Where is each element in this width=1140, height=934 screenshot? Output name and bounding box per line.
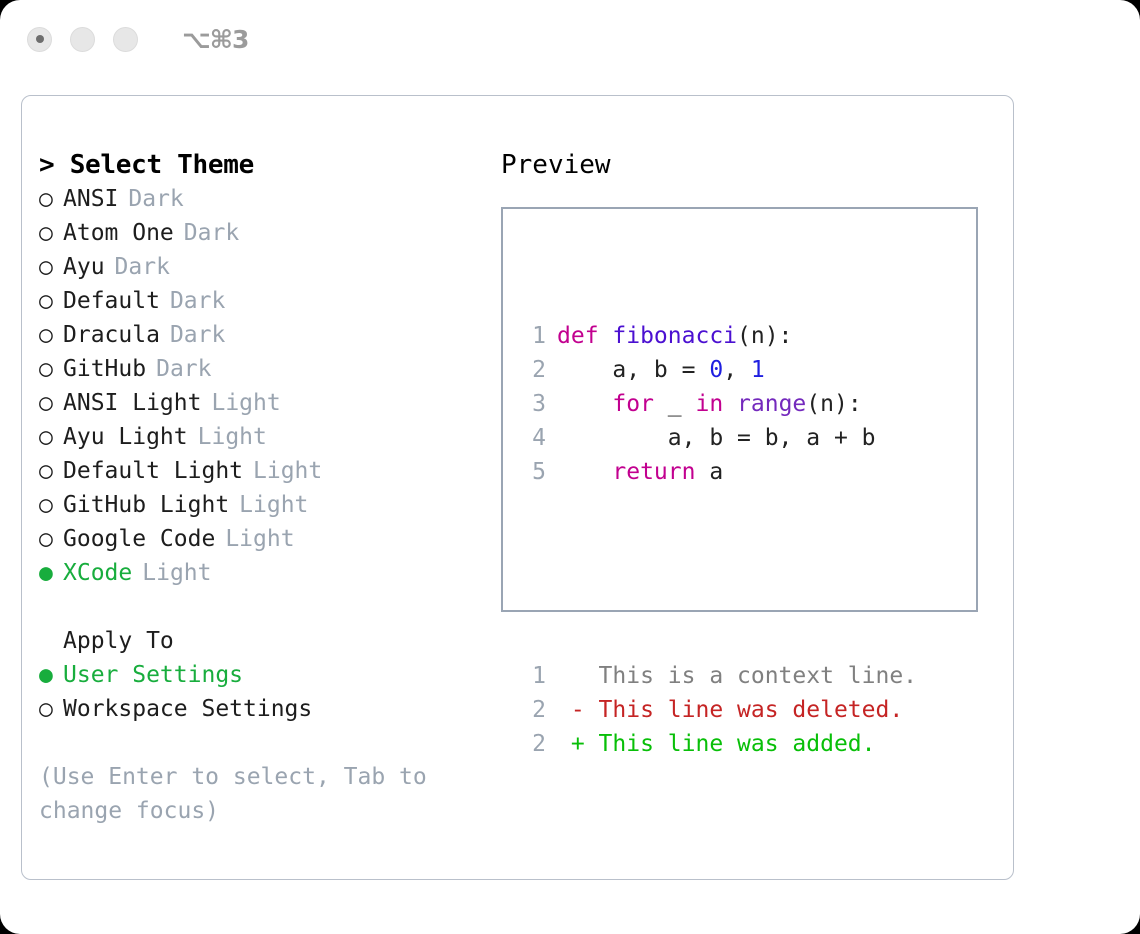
- window-button-2[interactable]: [70, 27, 95, 52]
- radio-unselected-icon: ○: [39, 522, 63, 556]
- theme-option-tag: Dark: [160, 284, 225, 318]
- theme-option-tag: Light: [201, 386, 280, 420]
- theme-option-github-light[interactable]: ○GitHub LightLight: [39, 488, 489, 522]
- theme-option-tag: Light: [243, 454, 322, 488]
- diff-line: 1 This is a context line.: [520, 659, 917, 693]
- theme-option-google-code[interactable]: ○Google CodeLight: [39, 522, 489, 556]
- window-controls: [27, 27, 138, 52]
- line-number: 4: [520, 421, 546, 455]
- diff-sample: 1 This is a context line.2 - This line w…: [520, 659, 917, 761]
- code-token: 1: [751, 357, 765, 383]
- diff-line: 2 - This line was deleted.: [520, 693, 917, 727]
- theme-option-label: Default Light: [63, 454, 243, 488]
- theme-option-tag: Dark: [160, 318, 225, 352]
- radio-selected-icon: ●: [39, 556, 63, 590]
- apply-to-heading-marker: ○: [39, 624, 63, 658]
- code-sample: 1def fibonacci(n):2 a, b = 0, 13 for _ i…: [520, 319, 917, 489]
- code-token: in: [695, 391, 723, 417]
- radio-unselected-icon: ○: [39, 318, 63, 352]
- radio-unselected-icon: ○: [39, 454, 63, 488]
- radio-unselected-icon: ○: [39, 488, 63, 522]
- theme-option-label: XCode: [63, 556, 132, 590]
- code-line: 5 return a: [520, 455, 917, 489]
- theme-option-ansi-light[interactable]: ○ANSI LightLight: [39, 386, 489, 420]
- code-token: for: [612, 391, 654, 417]
- radio-unselected-icon: ○: [39, 692, 63, 726]
- code-line: 3 for _ in range(n):: [520, 387, 917, 421]
- code-token: [557, 391, 612, 417]
- preview-box: 1def fibonacci(n):2 a, b = 0, 13 for _ i…: [501, 207, 978, 612]
- theme-option-tag: Light: [132, 556, 211, 590]
- line-number: 2: [520, 693, 546, 727]
- theme-option-label: Google Code: [63, 522, 215, 556]
- code-token: 0: [709, 357, 723, 383]
- theme-option-tag: Light: [188, 420, 267, 454]
- theme-option-xcode[interactable]: ●XCodeLight: [39, 556, 489, 590]
- apply-to-option-list: ●User Settings○Workspace Settings: [39, 658, 489, 726]
- theme-option-default-light[interactable]: ○Default LightLight: [39, 454, 489, 488]
- code-token: (n):: [737, 323, 792, 349]
- line-number: 1: [520, 659, 546, 693]
- radio-unselected-icon: ○: [39, 216, 63, 250]
- theme-option-ansi[interactable]: ○ANSIDark: [39, 182, 489, 216]
- radio-unselected-icon: ○: [39, 182, 63, 216]
- code-line: 2 a, b = 0, 1: [520, 353, 917, 387]
- code-blank-line: [520, 557, 917, 591]
- apply-to-heading: ○Apply To: [39, 624, 489, 658]
- preview-column: Preview 1def fibonacci(n):2 a, b = 0, 13…: [501, 148, 991, 612]
- theme-option-dracula[interactable]: ○DraculaDark: [39, 318, 489, 352]
- keyboard-hint: (Use Enter to select, Tab to change focu…: [39, 760, 439, 828]
- theme-option-ayu-light[interactable]: ○Ayu LightLight: [39, 420, 489, 454]
- theme-option-default[interactable]: ○DefaultDark: [39, 284, 489, 318]
- radio-unselected-icon: ○: [39, 386, 63, 420]
- code-token: range: [737, 391, 806, 417]
- theme-option-label: Dracula: [63, 318, 160, 352]
- code-token: ,: [723, 357, 751, 383]
- theme-option-label: ANSI Light: [63, 386, 201, 420]
- code-token: [723, 391, 737, 417]
- theme-option-label: GitHub: [63, 352, 146, 386]
- theme-option-label: Ayu: [63, 250, 105, 284]
- keyboard-shortcut-label: ⌥⌘3: [182, 25, 248, 54]
- terminal-window: ⌥⌘3 > Select Theme ○ANSIDark○Atom OneDar…: [0, 0, 1140, 934]
- theme-option-tag: Light: [215, 522, 294, 556]
- radio-selected-icon: ●: [39, 658, 63, 692]
- theme-option-label: ANSI: [63, 182, 118, 216]
- theme-option-ayu[interactable]: ○AyuDark: [39, 250, 489, 284]
- apply-to-option-user-settings[interactable]: ●User Settings: [39, 658, 489, 692]
- window-button-3[interactable]: [113, 27, 138, 52]
- theme-option-label: GitHub Light: [63, 488, 229, 522]
- window-button-1[interactable]: [27, 27, 52, 52]
- code-token: a: [695, 459, 723, 485]
- radio-unselected-icon: ○: [39, 420, 63, 454]
- preview-heading: Preview: [501, 148, 991, 182]
- code-line: 1def fibonacci(n):: [520, 319, 917, 353]
- radio-unselected-icon: ○: [39, 250, 63, 284]
- theme-option-list: ○ANSIDark○Atom OneDark○AyuDark○DefaultDa…: [39, 182, 489, 590]
- code-token: This is a context line.: [557, 663, 917, 689]
- line-number: 5: [520, 455, 546, 489]
- theme-option-github[interactable]: ○GitHubDark: [39, 352, 489, 386]
- panel-columns: > Select Theme ○ANSIDark○Atom OneDark○Ay…: [22, 96, 1013, 879]
- window-titlebar: ⌥⌘3: [0, 0, 1140, 78]
- apply-to-heading-label: Apply To: [63, 624, 174, 658]
- theme-option-label: Ayu Light: [63, 420, 188, 454]
- code-token: + This line was added.: [557, 731, 876, 757]
- code-token: fibonacci: [612, 323, 737, 349]
- code-token: (n):: [806, 391, 861, 417]
- code-token: def: [557, 323, 612, 349]
- code-token: [557, 459, 612, 485]
- theme-option-tag: Dark: [105, 250, 170, 284]
- code-token: a, b = b, a + b: [557, 425, 876, 451]
- line-number: 3: [520, 387, 546, 421]
- theme-option-atom-one[interactable]: ○Atom OneDark: [39, 216, 489, 250]
- theme-picker-column: > Select Theme ○ANSIDark○Atom OneDark○Ay…: [39, 148, 489, 828]
- theme-option-label: Atom One: [63, 216, 174, 250]
- code-token: a, b =: [557, 357, 709, 383]
- code-token: - This line was deleted.: [557, 697, 903, 723]
- line-number: 2: [520, 353, 546, 387]
- section-spacer: [39, 590, 489, 624]
- apply-to-option-label: Workspace Settings: [63, 692, 312, 726]
- line-number: 2: [520, 727, 546, 761]
- radio-unselected-icon: ○: [39, 352, 63, 386]
- preview-code: 1def fibonacci(n):2 a, b = 0, 13 for _ i…: [520, 251, 917, 829]
- line-number: 1: [520, 319, 546, 353]
- theme-option-label: Default: [63, 284, 160, 318]
- select-theme-heading: > Select Theme: [39, 148, 489, 182]
- window-button-1-indicator: [36, 35, 44, 43]
- code-token: _: [654, 391, 696, 417]
- theme-option-tag: Dark: [174, 216, 239, 250]
- theme-option-tag: Dark: [118, 182, 183, 216]
- theme-option-tag: Dark: [146, 352, 211, 386]
- diff-line: 2 + This line was added.: [520, 727, 917, 761]
- code-token: return: [612, 459, 695, 485]
- apply-to-option-label: User Settings: [63, 658, 243, 692]
- theme-option-tag: Light: [229, 488, 308, 522]
- radio-unselected-icon: ○: [39, 284, 63, 318]
- main-panel: > Select Theme ○ANSIDark○Atom OneDark○Ay…: [21, 95, 1014, 880]
- apply-to-option-workspace-settings[interactable]: ○Workspace Settings: [39, 692, 489, 726]
- code-line: 4 a, b = b, a + b: [520, 421, 917, 455]
